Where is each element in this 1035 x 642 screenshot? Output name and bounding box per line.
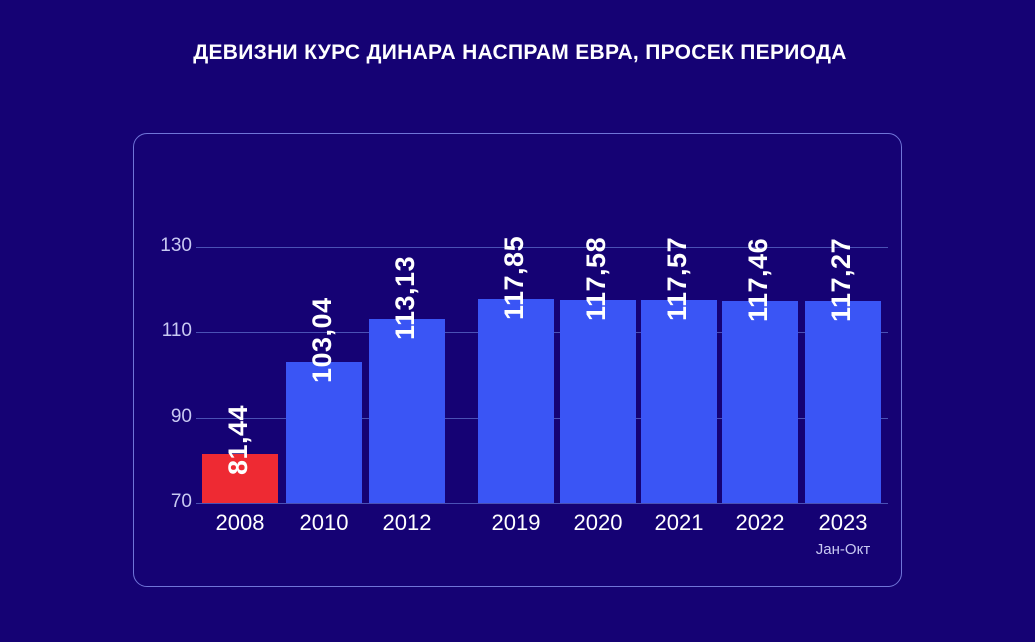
bar-2021[interactable] xyxy=(641,300,717,503)
bar-value-label: 117,85 xyxy=(499,236,530,320)
y-axis-tick-label: 70 xyxy=(146,491,192,513)
x-axis-sublabel: Јан-Окт xyxy=(793,541,893,558)
y-axis-tick-label: 110 xyxy=(146,320,192,342)
y-axis-tick-label: 130 xyxy=(146,235,192,257)
bar-2020[interactable] xyxy=(560,300,636,503)
bar-value-label: 117,58 xyxy=(581,237,612,321)
bar-2023[interactable] xyxy=(805,301,881,503)
x-axis-label-2012: 2012 xyxy=(357,510,457,536)
bar-2012[interactable] xyxy=(369,319,445,503)
bar-2010[interactable] xyxy=(286,362,362,503)
gridline-130 xyxy=(196,247,888,248)
bar-2019[interactable] xyxy=(478,299,554,503)
bar-value-label: 103,04 xyxy=(307,297,338,383)
y-axis-tick-label: 90 xyxy=(146,406,192,428)
bar-value-label: 117,27 xyxy=(826,238,857,322)
x-axis-baseline xyxy=(196,503,888,504)
bar-value-label: 81,44 xyxy=(223,405,254,475)
bar-value-label: 117,46 xyxy=(743,237,774,321)
bar-value-label: 113,13 xyxy=(390,256,421,340)
x-axis-label-2023: 2023 xyxy=(793,510,893,536)
bar-chart-plot: 130110907081,442008103,042010113,1320121… xyxy=(0,0,1035,642)
bar-2022[interactable] xyxy=(722,301,798,503)
bar-value-label: 117,57 xyxy=(662,237,693,321)
